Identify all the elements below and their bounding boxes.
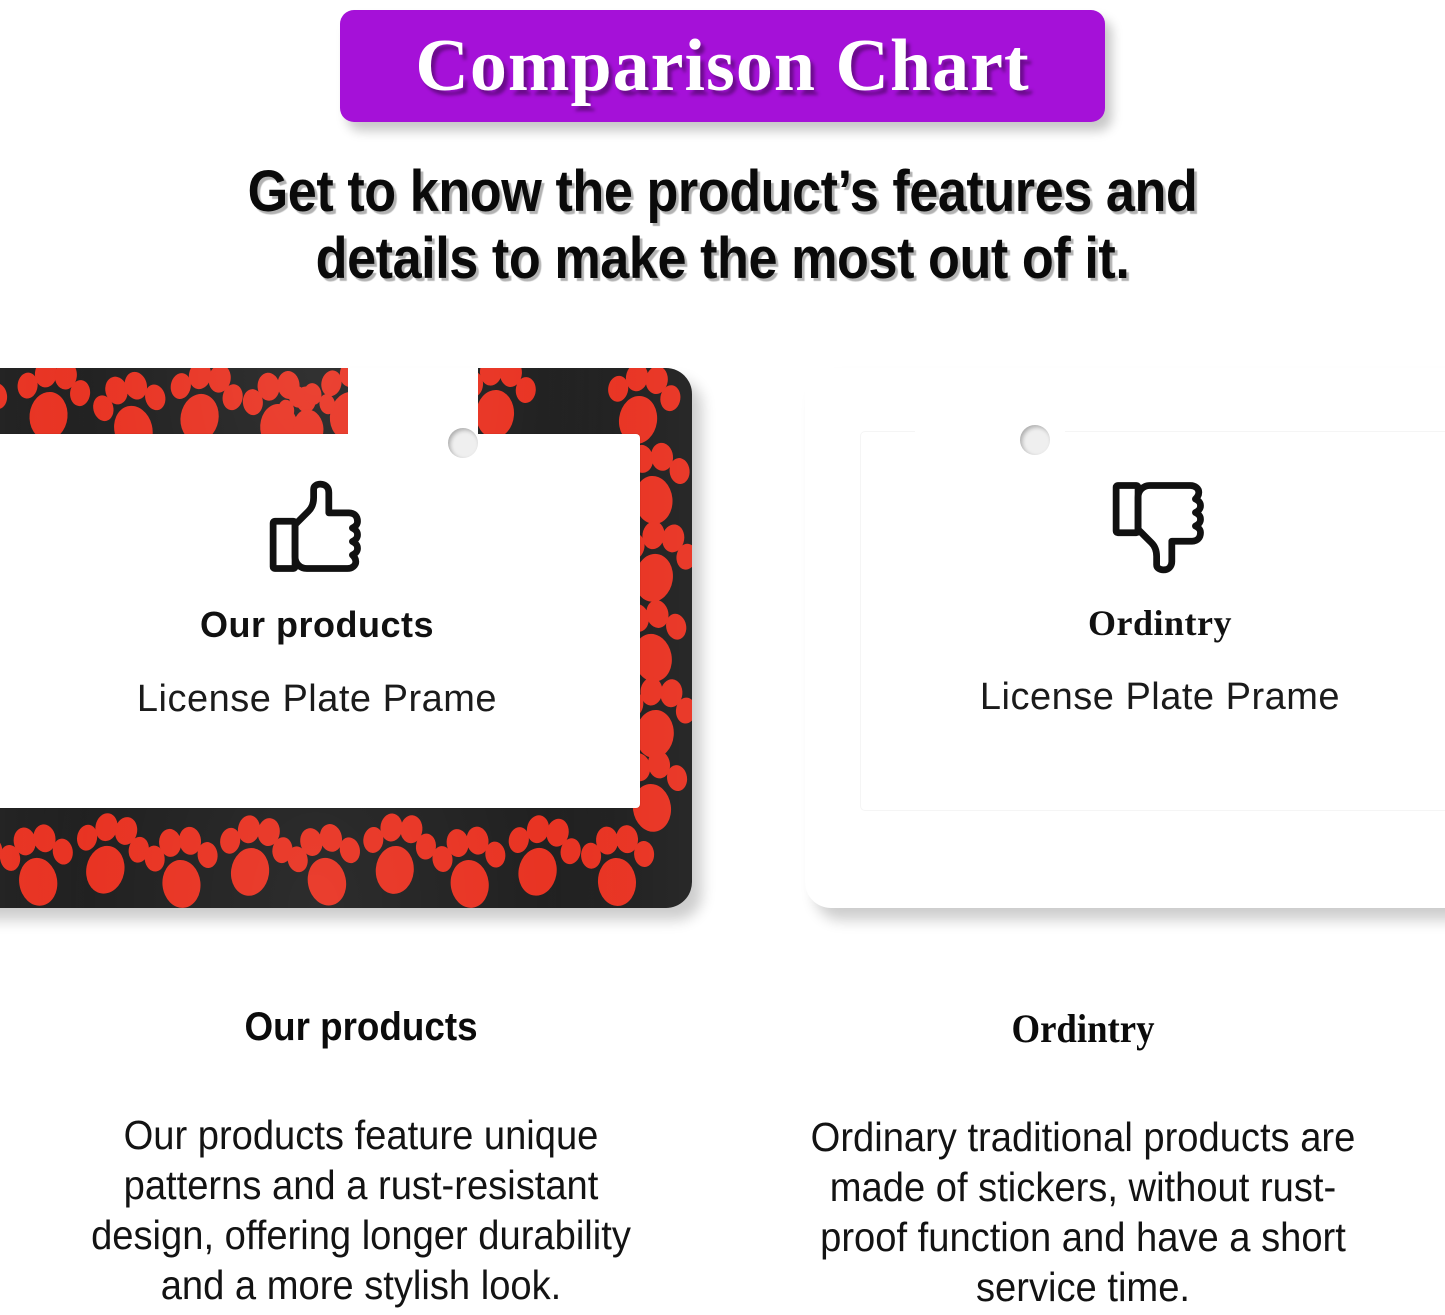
license-plate-window-ours: Our products License Plate Prame — [0, 434, 640, 808]
comparison-body-ordinary: Ordinary traditional products are made o… — [804, 1112, 1362, 1312]
plate-title-ordinary: Ordintry — [1088, 602, 1232, 644]
thumbs-down-icon — [1106, 472, 1214, 580]
comparison-column-ours: Our products Our products feature unique… — [0, 985, 722, 1315]
plate-subtitle-ours: License Plate Prame — [137, 678, 497, 721]
license-plate-window-ordinary: Ordintry License Plate Prame — [861, 432, 1445, 810]
subtitle: Get to know the product’s features and d… — [72, 158, 1373, 293]
comparison-heading-ours: Our products — [29, 1005, 693, 1050]
comparison-body-ours: Our products feature unique patterns and… — [82, 1110, 640, 1310]
plate-notch-ordinary — [915, 368, 1065, 432]
comparison-heading-ordinary: Ordintry — [751, 1005, 1415, 1052]
subtitle-line-1: Get to know the product’s features and — [72, 158, 1373, 225]
subtitle-line-2: details to make the most out of it. — [72, 225, 1373, 292]
page-title: Comparison Chart — [415, 29, 1029, 103]
thumbs-up-icon — [263, 474, 371, 582]
plate-subtitle-ordinary: License Plate Prame — [980, 676, 1340, 719]
mounting-hole-ordinary — [1020, 425, 1050, 455]
title-banner-wrap: Comparison Chart — [0, 10, 1445, 122]
plate-title-ours: Our products — [200, 604, 434, 646]
product-frames-row: Our products License Plate Prame Ordintr… — [0, 360, 1445, 920]
title-banner: Comparison Chart — [340, 10, 1105, 122]
plate-notch-ours — [348, 368, 478, 434]
product-frame-ordinary: Ordintry License Plate Prame — [805, 368, 1445, 908]
product-frame-ours: Our products License Plate Prame — [0, 368, 692, 908]
comparison-columns: Our products Our products feature unique… — [0, 985, 1445, 1315]
comparison-column-ordinary: Ordintry Ordinary traditional products a… — [722, 985, 1444, 1315]
mounting-hole-ours — [448, 428, 478, 458]
